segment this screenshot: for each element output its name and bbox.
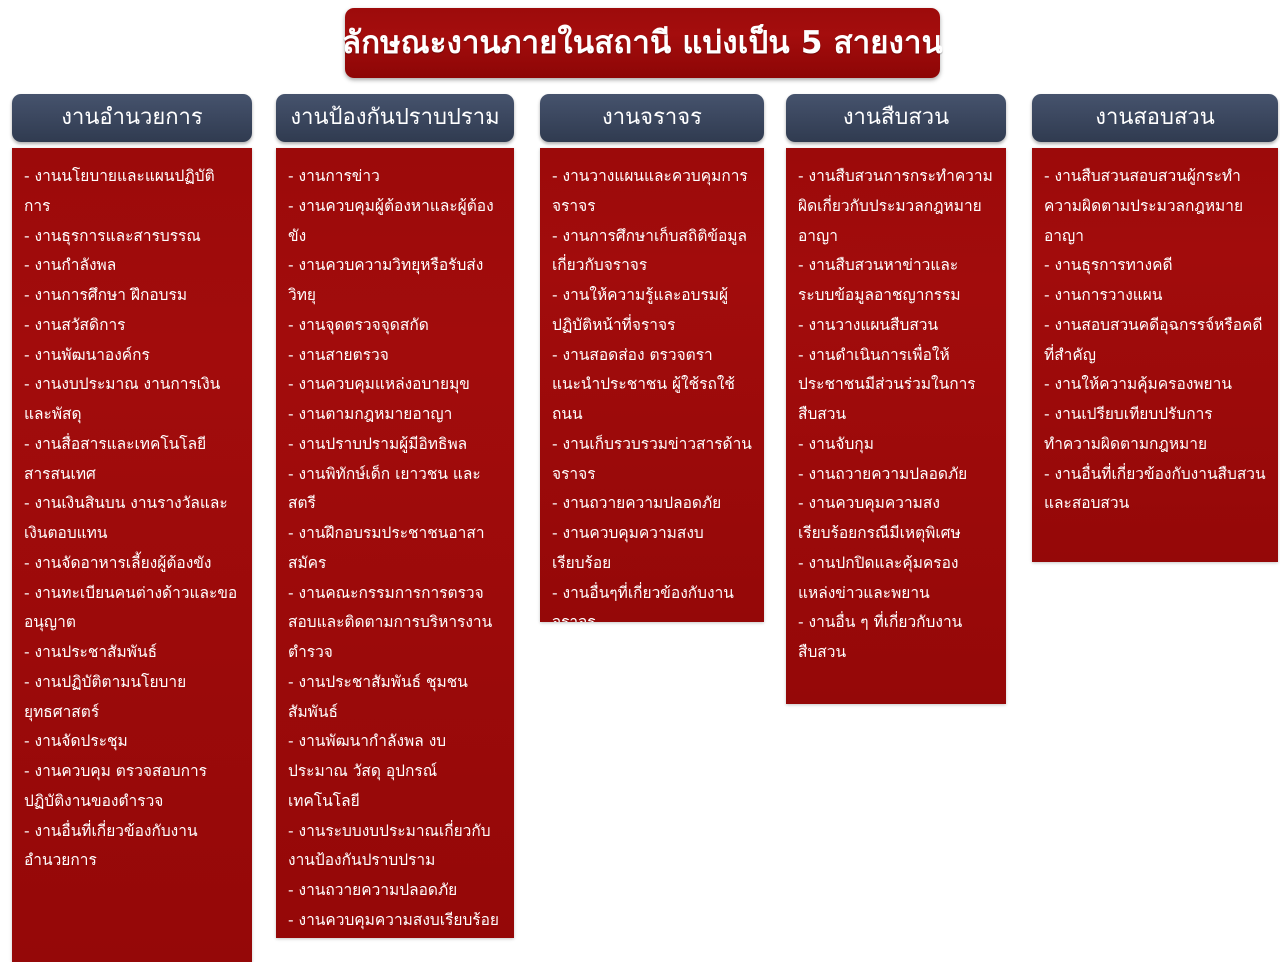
list-item: - งานประชาสัมพันธ์	[24, 638, 240, 668]
list-item: - งานทะเบียนคนต่างด้าวและขออนุญาต	[24, 579, 240, 639]
list-item: - งานจัดประชุม	[24, 727, 240, 757]
list-item: - งานสอดส่อง ตรวจตรา แนะนำประชาชน ผู้ใช้…	[552, 341, 752, 430]
list-item: - งานสืบสวนหาข่าวและระบบข้อมูลอาชญากรรม	[798, 251, 994, 311]
list-item: - งานการข่าว	[288, 162, 502, 192]
list-item: - งานสื่อสารและเทคโนโลยีสารสนเทศ	[24, 430, 240, 490]
list-item: - งานให้ความคุ้มครองพยาน	[1044, 370, 1266, 400]
column-header-charachon[interactable]: งานจราจร	[540, 94, 764, 142]
list-item: - งานงบประมาณ งานการเงินและพัสดุ	[24, 370, 240, 430]
list-item: - งานอื่น ๆ ที่เกี่ยวกับงานสืบสวน	[798, 608, 994, 668]
list-item: - งานธุรการทางคดี	[1044, 251, 1266, 281]
column-header-label: งานป้องกันปราบปราม	[290, 106, 499, 130]
column-header-amnuaikan[interactable]: งานอำนวยการ	[12, 94, 252, 142]
list-item: - งานควบคุม ตรวจสอบการปฏิบัติงานของตำรวจ	[24, 757, 240, 817]
list-item: - งานอื่นที่เกี่ยวข้องกับงานอำนวยการ	[24, 817, 240, 877]
column-header-label: งานจราจร	[602, 106, 702, 130]
list-item: - งานการศึกษาเก็บสถิติข้อมูลเกี่ยวกับจรา…	[552, 222, 752, 282]
list-item: - งานเก็บรวบรวมข่าวสารด้านจราจร	[552, 430, 752, 490]
column-body-charachon: - งานวางแผนและควบคุมการจราจร - งานการศึก…	[540, 148, 764, 622]
list-item: - งานให้ความรู้และอบรมผู้ปฏิบัติหน้าที่จ…	[552, 281, 752, 341]
list-item: - งานธุรการและสารบรรณ	[24, 222, 240, 252]
list-item: - งานประชาสัมพันธ์ ชุมชนสัมพันธ์	[288, 668, 502, 728]
list-item: - งานอื่นที่เกี่ยวข้องกับงานสืบสวนและสอบ…	[1044, 460, 1266, 520]
list-item: - งานถวายความปลอดภัย	[552, 489, 752, 519]
task-list: - งานการข่าว - งานควบคุมผู้ต้องหาและผู้ต…	[288, 162, 502, 938]
page-title-banner: ลักษณะงานภายในสถานี แบ่งเป็น 5 สายงาน	[345, 8, 940, 78]
column-header-label: งานสืบสวน	[843, 106, 949, 130]
list-item: - งานปกปิดและคุ้มครองแหล่งข่าวและพยาน	[798, 549, 994, 609]
list-item: - งานควบคุมผู้ต้องหาและผู้ต้องขัง	[288, 192, 502, 252]
list-item: - งานจัดอาหารเลี้ยงผู้ต้องขัง	[24, 549, 240, 579]
column-body-pongkan-prapram: - งานการข่าว - งานควบคุมผู้ต้องหาและผู้ต…	[276, 148, 514, 938]
list-item: - งานนโยบายและแผนปฏิบัติการ	[24, 162, 240, 222]
list-item: - งานควบคุมความสงเรียบร้อยกรณีมีเหตุพิเศ…	[798, 489, 994, 549]
list-item: - งานอื่นๆที่เกี่ยวข้องกับงานจราจร	[552, 579, 752, 623]
column-header-suepsuan[interactable]: งานสืบสวน	[786, 94, 1006, 142]
list-item: - งานระบบงบประมาณเกี่ยวกับงานป้องกันปราบ…	[288, 817, 502, 877]
task-list: - งานสืบสวนสอบสวนผู้กระทำความผิดตามประมว…	[1044, 162, 1266, 519]
list-item: - งานพัฒนาองค์กร	[24, 341, 240, 371]
task-list: - งานนโยบายและแผนปฏิบัติการ - งานธุรการแ…	[24, 162, 240, 876]
list-item: - งานตามกฎหมายอาญา	[288, 400, 502, 430]
list-item: - งานควบคุมความสงบเรียบร้อย	[552, 519, 752, 579]
list-item: - งานถวายความปลอดภัย	[288, 876, 502, 906]
task-list: - งานวางแผนและควบคุมการจราจร - งานการศึก…	[552, 162, 752, 622]
list-item: - งานสืบสวนการกระทำความผิดเกี่ยวกับประมว…	[798, 162, 994, 251]
list-item: - งานการวางแผน	[1044, 281, 1266, 311]
list-item: - งานถวายความปลอดภัย	[798, 460, 994, 490]
list-item: - งานปฏิบัติตามนโยบายยุทธศาสตร์	[24, 668, 240, 728]
list-item: - งานอื่นที่เกี่ยวกับงานป้องกันปราบปราม	[288, 936, 502, 939]
column-body-amnuaikan: - งานนโยบายและแผนปฏิบัติการ - งานธุรการแ…	[12, 148, 252, 962]
list-item: - งานคณะกรรมการการตรวจสอบและติดตามการบริ…	[288, 579, 502, 668]
list-item: - งานกำลังพล	[24, 251, 240, 281]
column-body-suepsuan: - งานสืบสวนการกระทำความผิดเกี่ยวกับประมว…	[786, 148, 1006, 704]
list-item: - งานควบคุมความสงบเรียบร้อย	[288, 906, 502, 936]
list-item: - งานควบคุมแหล่งอบายมุข	[288, 370, 502, 400]
column-header-pongkan-prapram[interactable]: งานป้องกันปราบปราม	[276, 94, 514, 142]
column-header-label: งานอำนวยการ	[61, 106, 202, 130]
list-item: - งานจับกุม	[798, 430, 994, 460]
list-item: - งานควบความวิทยุหรือรับส่งวิทยุ	[288, 251, 502, 311]
list-item: - งานสายตรวจ	[288, 341, 502, 371]
column-header-label: งานสอบสวน	[1095, 106, 1215, 130]
list-item: - งานจุดตรวจจุดสกัด	[288, 311, 502, 341]
task-list: - งานสืบสวนการกระทำความผิดเกี่ยวกับประมว…	[798, 162, 994, 668]
list-item: - งานเงินสินบน งานรางวัลและเงินตอบแทน	[24, 489, 240, 549]
list-item: - งานเปรียบเทียบปรับการทำความผิดตามกฎหมา…	[1044, 400, 1266, 460]
list-item: - งานปราบปรามผู้มีอิทธิพล	[288, 430, 502, 460]
column-header-sobsuan[interactable]: งานสอบสวน	[1032, 94, 1278, 142]
list-item: - งานสวัสดิการ	[24, 311, 240, 341]
list-item: - งานวางแผนและควบคุมการจราจร	[552, 162, 752, 222]
list-item: - งานดำเนินการเพื่อให้ประชาชนมีส่วนร่วมใ…	[798, 341, 994, 430]
list-item: - งานพัฒนากำลังพล งบประมาณ วัสดุ อุปกรณ์…	[288, 727, 502, 816]
list-item: - งานสอบสวนคดีอุฉกรรจ์หรือคดีที่สำคัญ	[1044, 311, 1266, 371]
list-item: - งานฝึกอบรมประชาชนอาสาสมัคร	[288, 519, 502, 579]
list-item: - งานการศึกษา ฝึกอบรม	[24, 281, 240, 311]
column-body-sobsuan: - งานสืบสวนสอบสวนผู้กระทำความผิดตามประมว…	[1032, 148, 1278, 562]
list-item: - งานสืบสวนสอบสวนผู้กระทำความผิดตามประมว…	[1044, 162, 1266, 251]
list-item: - งานวางแผนสืบสวน	[798, 311, 994, 341]
list-item: - งานพิทักษ์เด็ก เยาวชน และสตรี	[288, 460, 502, 520]
page-title: ลักษณะงานภายในสถานี แบ่งเป็น 5 สายงาน	[342, 26, 943, 60]
